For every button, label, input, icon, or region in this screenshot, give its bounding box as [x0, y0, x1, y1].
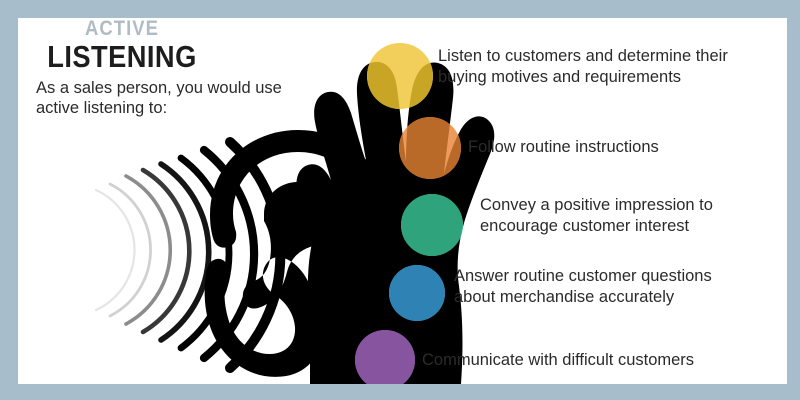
infographic-canvas: ACTIVE LISTENING As a sales person, you …	[0, 0, 800, 400]
list-item-label: Answer routine customer questions about …	[454, 266, 784, 308]
list-item-label: Convey a positive impression to encourag…	[480, 195, 787, 237]
list-item-label: Follow routine instructions	[468, 137, 787, 158]
list-item-label: Communicate with difficult customers	[422, 350, 772, 371]
bullet-list: Listen to customers and determine their …	[18, 18, 787, 384]
list-item-label: Listen to customers and determine their …	[438, 46, 778, 88]
white-canvas: ACTIVE LISTENING As a sales person, you …	[18, 18, 787, 384]
